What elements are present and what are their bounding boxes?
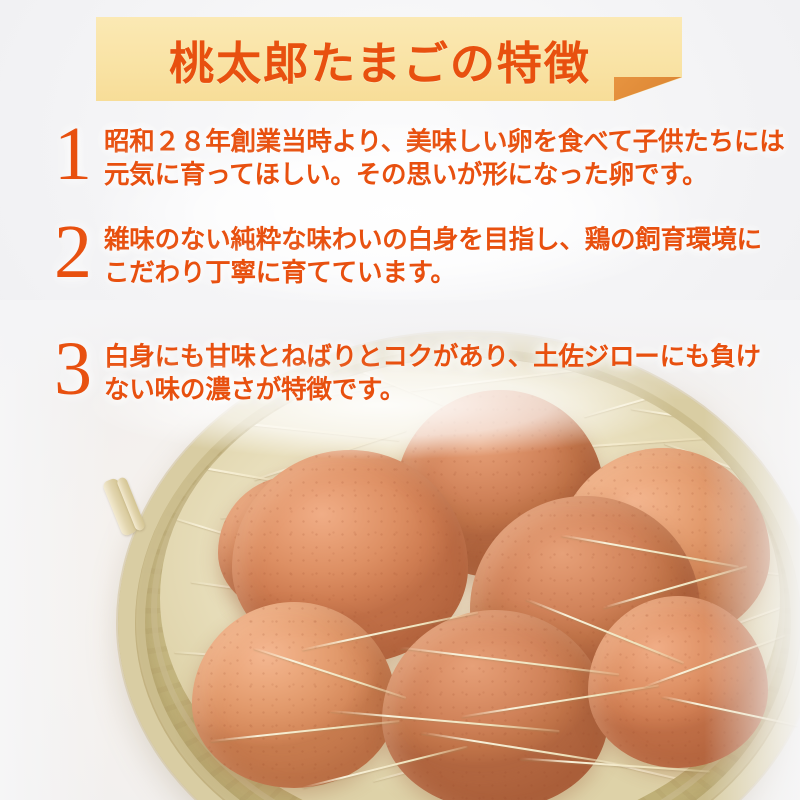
feature-text: 雑味のない純粋な味わいの白身を目指し、鶏の飼育環境にこだわり丁寧に育てています。 bbox=[104, 216, 800, 290]
page-title: 桃太郎たまごの特徴 bbox=[96, 17, 682, 101]
feature-text: 昭和２８年創業当時より、美味しい卵を食べて子供たちには元気に育ってほしい。その思… bbox=[104, 118, 800, 192]
infographic-page: 桃太郎たまごの特徴 1 昭和２８年創業当時より、美味しい卵を食べて子供たちには元… bbox=[0, 0, 800, 800]
feature-number: 1 bbox=[42, 120, 104, 190]
feature-number: 2 bbox=[42, 218, 104, 288]
feature-item: 3 白身にも甘味とねばりとコクがあり、土佐ジローにも負けない味の濃さが特徴です。 bbox=[0, 333, 800, 407]
feature-number: 3 bbox=[42, 335, 104, 405]
feature-item: 1 昭和２８年創業当時より、美味しい卵を食べて子供たちには元気に育ってほしい。そ… bbox=[0, 118, 800, 192]
feature-item: 2 雑味のない純粋な味わいの白身を目指し、鶏の飼育環境にこだわり丁寧に育てていま… bbox=[0, 216, 800, 290]
header-banner: 桃太郎たまごの特徴 bbox=[96, 17, 682, 101]
feature-list: 1 昭和２８年創業当時より、美味しい卵を食べて子供たちには元気に育ってほしい。そ… bbox=[0, 118, 800, 421]
feature-text: 白身にも甘味とねばりとコクがあり、土佐ジローにも負けない味の濃さが特徴です。 bbox=[104, 333, 800, 407]
